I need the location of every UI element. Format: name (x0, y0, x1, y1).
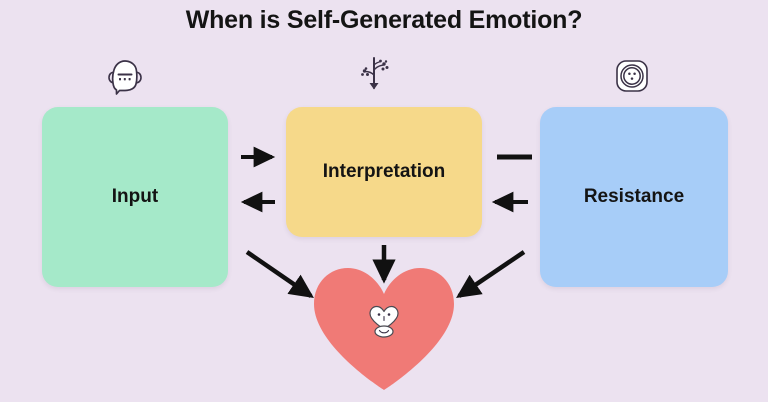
node-interpretation[interactable]: Interpretation (286, 107, 482, 237)
node-input-label: Input (112, 186, 158, 208)
sprout-icon (350, 50, 398, 98)
node-resistance-label: Resistance (584, 186, 684, 208)
diagram-canvas: When is Self-Generated Emotion? (0, 0, 768, 402)
node-input[interactable]: Input (42, 107, 228, 287)
node-heart[interactable] (310, 262, 458, 392)
node-resistance[interactable]: Resistance (540, 107, 728, 287)
heart-face-icon (367, 304, 401, 340)
connector-input-to-heart (247, 252, 311, 296)
connector-resistance-to-heart (459, 252, 524, 296)
node-interpretation-label: Interpretation (323, 161, 445, 183)
face-circle-icon (608, 52, 656, 100)
robot-head-icon (101, 52, 149, 100)
page-title: When is Self-Generated Emotion? (0, 6, 768, 35)
